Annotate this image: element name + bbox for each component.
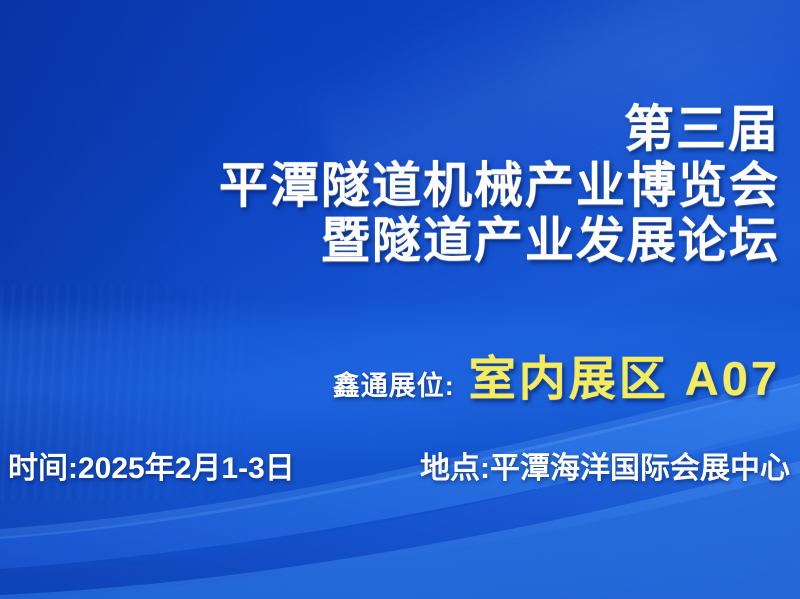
event-meta: 时间:2025年2月1-3日 地点:平潭海洋国际会展中心 xyxy=(8,443,790,487)
promo-banner: 第三届 平潭隧道机械产业博览会 暨隧道产业发展论坛 鑫通展位: 室内展区 A07… xyxy=(0,0,800,599)
title-line-3: 暨隧道产业发展论坛 xyxy=(20,217,780,266)
booth-number: 室内展区 A07 xyxy=(469,340,780,409)
event-date: 时间:2025年2月1-3日 xyxy=(8,443,295,487)
event-title: 第三届 平潭隧道机械产业博览会 暨隧道产业发展论坛 xyxy=(20,104,780,266)
booth-info: 鑫通展位: 室内展区 A07 xyxy=(20,340,780,409)
event-location: 地点:平潭海洋国际会展中心 xyxy=(420,443,790,487)
title-line-2: 平潭隧道机械产业博览会 xyxy=(20,162,780,211)
title-line-1: 第三届 xyxy=(20,104,780,154)
booth-label: 鑫通展位: xyxy=(333,364,455,403)
